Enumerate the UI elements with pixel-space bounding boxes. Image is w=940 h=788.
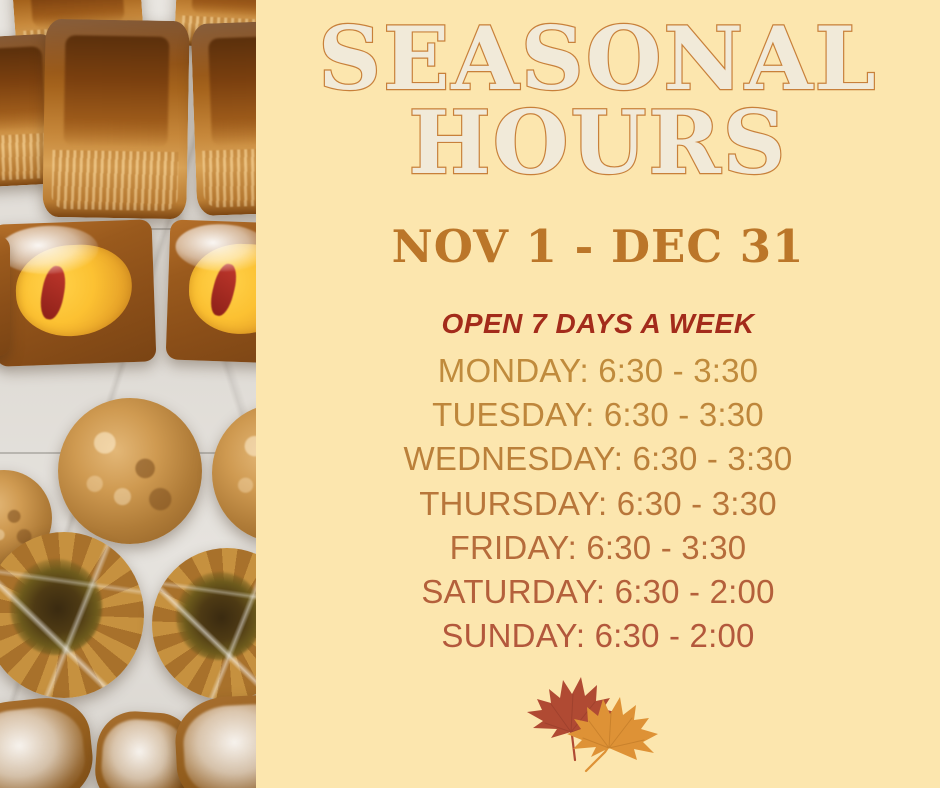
maple-leaves-icon — [513, 672, 683, 780]
hours-row-sunday: SUNDAY: 6:30 - 2:00 — [256, 614, 940, 658]
title-line-seasonal: SEASONAL — [256, 18, 940, 100]
pastry-peach-danish — [0, 236, 10, 356]
pastry-pain-au-chocolat — [42, 19, 189, 219]
date-range: NOV 1 - DEC 31 — [256, 220, 940, 273]
hours-row-friday: FRIDAY: 6:30 - 3:30 — [256, 526, 940, 570]
autumn-leaves-decoration — [513, 672, 683, 780]
title-line-hours: HOURS — [256, 102, 940, 184]
pastry-peach-danish — [0, 219, 156, 366]
hours-row-wednesday: WEDNESDAY: 6:30 - 3:30 — [256, 437, 940, 481]
hours-row-saturday: SATURDAY: 6:30 - 2:00 — [256, 570, 940, 614]
poster-content: SEASONAL HOURS NOV 1 - DEC 31 OPEN 7 DAY… — [256, 0, 940, 788]
hours-list: OPEN 7 DAYS A WEEK MONDAY: 6:30 - 3:30 T… — [256, 308, 940, 659]
open-days-banner: OPEN 7 DAYS A WEEK — [256, 308, 940, 340]
hours-row-thursday: THURSDAY: 6:30 - 3:30 — [256, 482, 940, 526]
hours-row-monday: MONDAY: 6:30 - 3:30 — [256, 349, 940, 393]
pastry-pain-au-chocolat — [191, 20, 256, 216]
pastry-crumb-round — [58, 398, 202, 544]
seasonal-hours-poster: SEASONAL HOURS NOV 1 - DEC 31 OPEN 7 DAY… — [0, 0, 940, 788]
pastry-peach-danish — [166, 219, 256, 364]
hours-row-tuesday: TUESDAY: 6:30 - 3:30 — [256, 393, 940, 437]
powdered-sugar — [175, 222, 256, 273]
poster-title: SEASONAL HOURS — [256, 18, 940, 184]
bakery-pastries-photo — [0, 0, 256, 788]
